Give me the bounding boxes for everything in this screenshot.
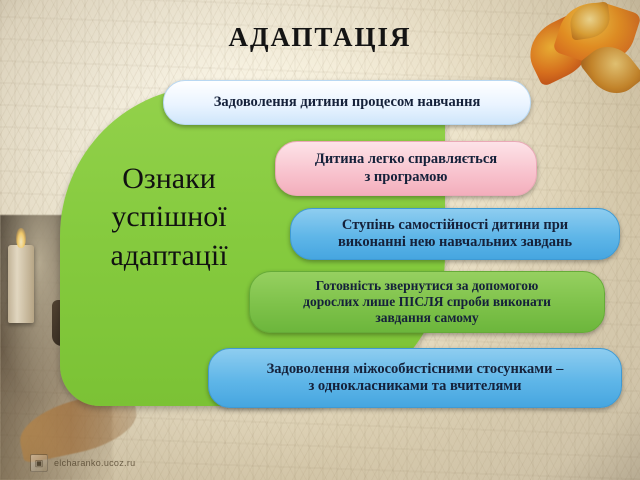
callout-bar-3: Ступінь самостійності дитини при виконан… (290, 208, 620, 260)
slide-title: АДАПТАЦІЯ (0, 22, 640, 53)
callout-bar-5-line: Задоволення міжособистісними стосунками … (267, 361, 564, 378)
callout-bar-3-line: виконанні нею навчальних завдань (338, 234, 572, 251)
callout-bar-2-line: з програмою (315, 169, 497, 186)
center-label-line: успішної (74, 198, 264, 236)
callout-bar-4: Готовність звернутися за допомогою дорос… (249, 271, 605, 333)
slide-canvas: АДАПТАЦІЯ Ознаки успішної адаптації Задо… (0, 0, 640, 480)
center-label-line: Ознаки (74, 160, 264, 198)
watermark: ▣ elcharanko.ucoz.ru (30, 454, 135, 472)
callout-bar-2: Дитина легко справляється з програмою (275, 141, 537, 196)
center-label-line: адаптації (74, 237, 264, 275)
callout-bar-4-line: дорослих лише ПІСЛЯ спроби виконати (303, 294, 551, 310)
watermark-logo-icon: ▣ (30, 454, 48, 472)
callout-bar-4-line: завдання самому (303, 310, 551, 326)
callout-bar-1-line: Задоволення дитини процесом навчання (214, 94, 481, 111)
callout-bar-5: Задоволення міжособистісними стосунками … (208, 348, 622, 408)
watermark-text: elcharanko.ucoz.ru (54, 458, 135, 468)
callout-bar-4-line: Готовність звернутися за допомогою (303, 278, 551, 294)
callout-bar-2-line: Дитина легко справляється (315, 151, 497, 168)
center-label: Ознаки успішної адаптації (74, 160, 264, 275)
callout-bar-1: Задоволення дитини процесом навчання (163, 80, 531, 125)
callout-bar-3-line: Ступінь самостійності дитини при (338, 217, 572, 234)
callout-bar-5-line: з однокласниками та вчителями (267, 378, 564, 395)
